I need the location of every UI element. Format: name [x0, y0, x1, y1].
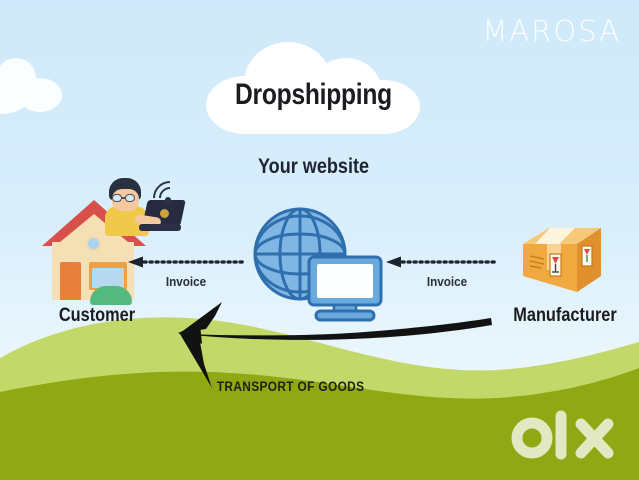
cloud-decoration-left — [0, 58, 66, 114]
invoice-label-right: Invoice — [398, 274, 497, 289]
transport-of-goods-arrow — [160, 296, 510, 392]
cardboard-box-icon — [519, 222, 605, 298]
page-subtitle: Your website — [204, 155, 423, 179]
invoice-label-left: Invoice — [132, 274, 240, 289]
transport-of-goods-label: TRANSPORT OF GOODS — [217, 379, 463, 394]
wifi-icon — [152, 180, 186, 208]
dropshipping-infographic: Dropshipping Your website MAROSA — [0, 0, 639, 480]
marosa-logo: MAROSA — [482, 14, 621, 48]
label-manufacturer: Manufacturer — [502, 305, 628, 327]
invoice-arrow-left — [128, 256, 244, 268]
olx-watermark — [511, 408, 617, 462]
page-title: Dropshipping — [225, 78, 401, 112]
label-customer: Customer — [33, 305, 162, 327]
invoice-arrow-right — [386, 256, 498, 268]
